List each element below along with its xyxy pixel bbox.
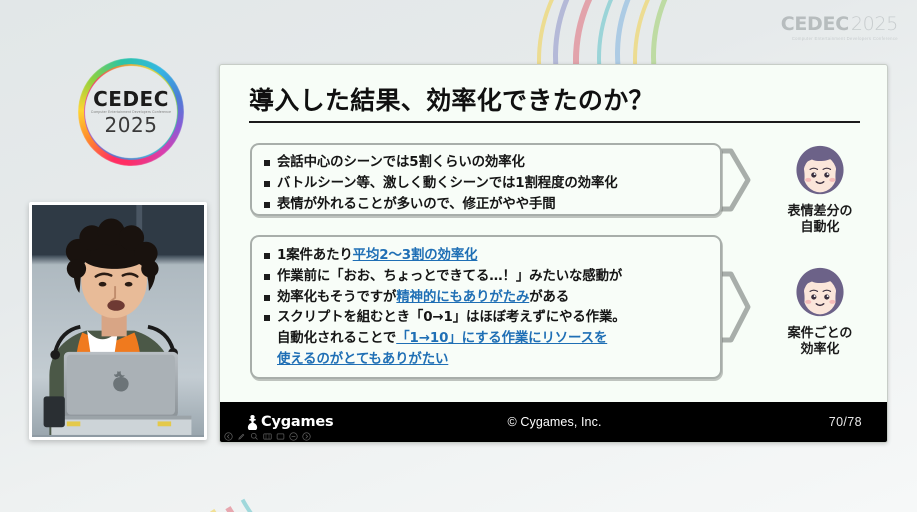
title-underline-rule bbox=[249, 121, 860, 123]
plain-text: 作業前に「おお、ちょっとできてる…！」みたいな感動が bbox=[277, 269, 622, 284]
display-icon[interactable] bbox=[276, 432, 285, 441]
page-number: 70/78 bbox=[829, 415, 862, 429]
bullet-item: スクリプトを組むとき「0→1」はほぼ考えずにやる作業。 bbox=[264, 308, 720, 329]
slide-view-icon[interactable] bbox=[263, 432, 272, 441]
plain-text: 効率化もそうですが bbox=[277, 290, 396, 305]
presentation-controls[interactable] bbox=[224, 432, 311, 441]
bullet-item: 表情が外れることが多いので、修正がやや手間 bbox=[264, 195, 720, 216]
bullet-item: バトルシーン等、激しく動くシーンでは1割程度の効率化 bbox=[264, 174, 720, 195]
next-slide-icon[interactable] bbox=[302, 432, 311, 441]
screen: CEDEC Computer Entertainment Developers … bbox=[0, 0, 917, 512]
plain-text: 自動化されることで bbox=[277, 331, 396, 346]
avatar-label-line1: 案件ごとの bbox=[761, 326, 879, 342]
cedec-watermark-year: 2025 bbox=[851, 13, 898, 35]
cedec-watermark: CEDEC 2025 Computer Entertainment Develo… bbox=[781, 13, 898, 41]
slide-footer: Cygames © Cygames, Inc. 70/78 bbox=[220, 402, 888, 442]
previous-slide-icon[interactable] bbox=[224, 432, 233, 441]
bullet-marker-icon bbox=[264, 315, 270, 321]
bullet-marker-icon bbox=[264, 295, 270, 301]
bullet-text: 1案件あたり平均2〜3割の効率化 bbox=[277, 246, 720, 267]
bullet-marker-icon bbox=[264, 253, 270, 259]
bullet-text: 自動化されることで「1→10」にする作業にリソースを bbox=[264, 329, 720, 350]
highlighted-text: 精神的にもありがたみ bbox=[396, 290, 529, 305]
bullet-marker-icon bbox=[264, 274, 270, 280]
plain-text: 表情が外れることが多いので、修正がやや手間 bbox=[277, 197, 556, 212]
slide-title: 導入した結果、効率化できたのか？ bbox=[249, 81, 654, 117]
avatar-block-per-project: 案件ごとの 効率化 bbox=[761, 261, 879, 358]
plain-text: スクリプトを組むとき「0→1」はほぼ考えずにやる作業。 bbox=[277, 310, 626, 325]
bullet-text: 効率化もそうですが精神的にもありがたみがある bbox=[277, 288, 720, 309]
cedec-watermark-wordmark: CEDEC bbox=[781, 13, 849, 35]
bullet-marker-icon bbox=[264, 202, 270, 208]
cedec-logo-year: 2025 bbox=[105, 115, 158, 136]
bullet-list-2: 1案件あたり平均2〜3割の効率化 作業前に「おお、ちょっとできてる…！」みたいな… bbox=[252, 237, 720, 371]
bullet-text: 使えるのがとてもありがたい bbox=[264, 350, 720, 371]
speaker-video-frame bbox=[32, 205, 204, 435]
bullet-text: 会話中心のシーンでは5割くらいの効率化 bbox=[277, 153, 720, 174]
plain-text: バトルシーン等、激しく動くシーンでは1割程度の効率化 bbox=[277, 176, 618, 191]
bullet-item: 1案件あたり平均2〜3割の効率化 bbox=[264, 246, 720, 267]
avatar-label-line2: 効率化 bbox=[761, 342, 879, 358]
cedec-logo-wordmark: CEDEC bbox=[93, 89, 169, 109]
more-options-icon[interactable] bbox=[289, 432, 298, 441]
cedec-logo: CEDEC Computer Entertainment Developers … bbox=[76, 56, 186, 168]
speaker-camera-feed bbox=[29, 202, 207, 440]
bullet-item: 効率化もそうですが精神的にもありがたみがある bbox=[264, 288, 720, 309]
bullet-item-continuation: 自動化されることで「1→10」にする作業にリソースを bbox=[264, 329, 720, 350]
bullet-text: バトルシーン等、激しく動くシーンでは1割程度の効率化 bbox=[277, 174, 720, 195]
woman-face-icon bbox=[789, 139, 851, 201]
bullet-marker-icon bbox=[264, 181, 270, 187]
bullet-list-1: 会話中心のシーンでは5割くらいの効率化 バトルシーン等、激しく動くシーンでは1割… bbox=[252, 145, 720, 215]
highlighted-text: 使えるのがとてもありがたい bbox=[277, 352, 448, 367]
woman-face-icon bbox=[789, 261, 851, 323]
bullet-text: 作業前に「おお、ちょっとできてる…！」みたいな感動が bbox=[277, 267, 720, 288]
bullet-text: 表情が外れることが多いので、修正がやや手間 bbox=[277, 195, 720, 216]
zoom-icon[interactable] bbox=[250, 432, 259, 441]
plain-text: がある bbox=[529, 290, 569, 305]
bullet-marker-icon bbox=[264, 160, 270, 166]
plain-text: 会話中心のシーンでは5割くらいの効率化 bbox=[277, 155, 525, 170]
callout-box-per-project: 1案件あたり平均2〜3割の効率化 作業前に「おお、ちょっとできてる…！」みたいな… bbox=[250, 235, 722, 379]
plain-text: 1案件あたり bbox=[277, 248, 353, 263]
cedec-watermark-subtitle: Computer Entertainment Developers Confer… bbox=[781, 36, 898, 41]
bullet-item: 会話中心のシーンでは5割くらいの効率化 bbox=[264, 153, 720, 174]
bullet-text: スクリプトを組むとき「0→1」はほぼ考えずにやる作業。 bbox=[277, 308, 720, 329]
highlighted-text: 「1→10」にする作業にリソースを bbox=[396, 331, 607, 346]
bullet-item-continuation: 使えるのがとてもありがたい bbox=[264, 350, 720, 371]
pen-icon[interactable] bbox=[237, 432, 246, 441]
presentation-slide: 導入した結果、効率化できたのか？ 会話中心のシーンでは5割くらいの効率化 bbox=[219, 64, 888, 443]
bullet-item: 作業前に「おお、ちょっとできてる…！」みたいな感動が bbox=[264, 267, 720, 288]
callout-box-results: 会話中心のシーンでは5割くらいの効率化 バトルシーン等、激しく動くシーンでは1割… bbox=[250, 143, 722, 216]
highlighted-text: 平均2〜3割の効率化 bbox=[353, 248, 478, 263]
avatar-label-line1: 表情差分の bbox=[761, 204, 879, 220]
avatar-block-expression-diff: 表情差分の 自動化 bbox=[761, 139, 879, 236]
copyright-text: © Cygames, Inc. bbox=[220, 415, 888, 429]
avatar-label-line2: 自動化 bbox=[761, 220, 879, 236]
